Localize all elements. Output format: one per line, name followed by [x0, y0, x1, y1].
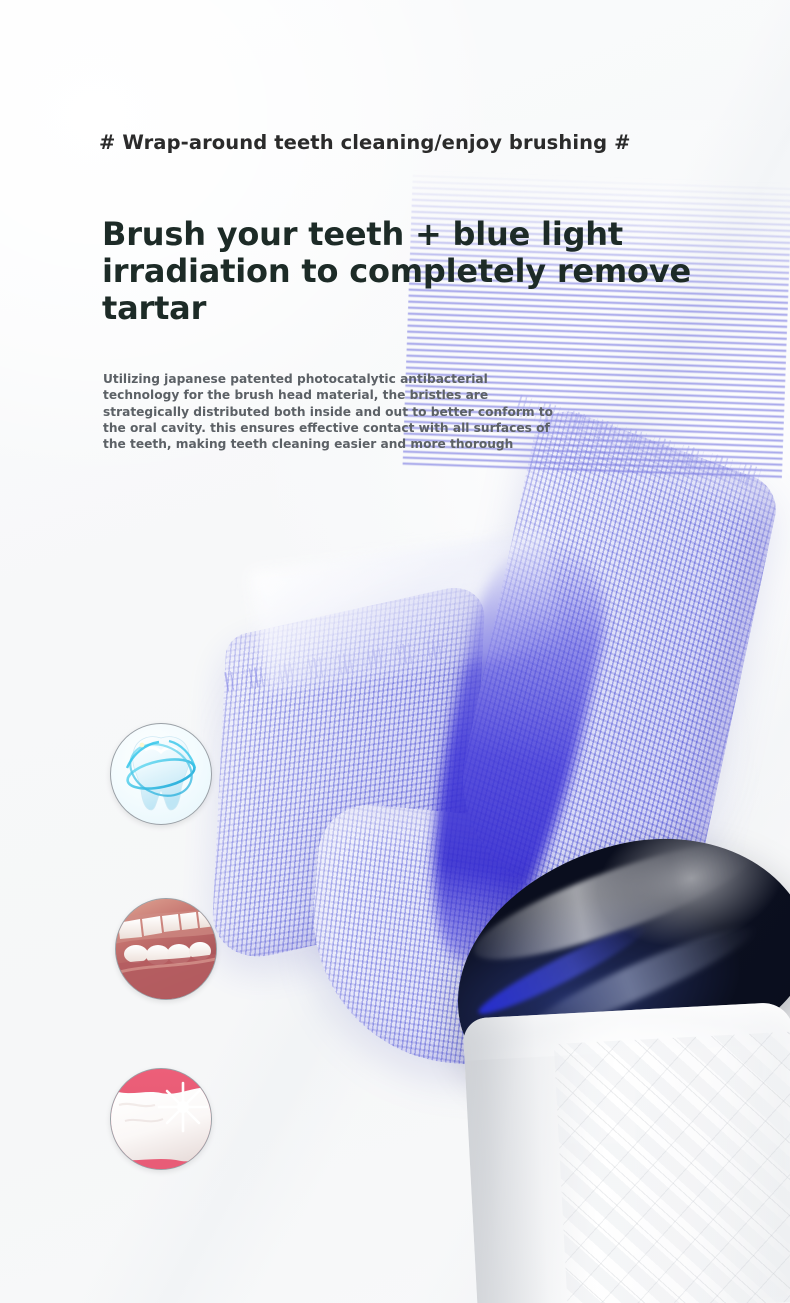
motion-blur-streaks [175, 497, 785, 1012]
collar-gloss-highlight [464, 821, 766, 980]
device-white-handle [462, 1002, 790, 1303]
tagline: # Wrap-around teeth cleaning/enjoy brush… [99, 131, 631, 154]
product-image [170, 395, 790, 1303]
body-line: technology for the brush head material, … [103, 387, 555, 403]
handle-top-edge [462, 1002, 790, 1061]
tooth-clean-icon [110, 723, 212, 825]
tooth-sparkle-icon [110, 1068, 212, 1170]
body-description: Utilizing japanese patented photocatalyt… [103, 371, 555, 453]
handle-faceted-texture [554, 1028, 790, 1303]
body-line: the oral cavity. this ensures effective … [103, 420, 555, 436]
smile-photo-icon [115, 898, 217, 1000]
body-line: the teeth, making teeth cleaning easier … [103, 436, 555, 452]
product-detail-banner: # Wrap-around teeth cleaning/enjoy brush… [0, 0, 790, 1303]
device-dark-collar [428, 805, 790, 1115]
tooth-sparkle-glyph [111, 1069, 211, 1169]
brush-arm-base [301, 801, 691, 1082]
page-title: Brush your teeth + blue light irradiatio… [102, 216, 702, 327]
brush-inner-channel [399, 528, 622, 976]
brush-arm-right [445, 400, 782, 942]
bristle-blur-fringe [249, 530, 563, 691]
handle-left-shadow [462, 1013, 598, 1303]
u-shaped-brush-head [178, 379, 790, 1091]
bristle-spikes-left [224, 636, 454, 692]
collar-secondary-highlight [519, 914, 761, 1047]
body-line: Utilizing japanese patented photocatalyt… [103, 371, 555, 387]
tooth-clean-glyph [111, 724, 211, 824]
smile-photo-glyph [116, 899, 216, 999]
brush-arm-left [210, 580, 486, 969]
body-line: strategically distributed both inside an… [103, 404, 555, 420]
collar-blue-rim [473, 916, 653, 1024]
